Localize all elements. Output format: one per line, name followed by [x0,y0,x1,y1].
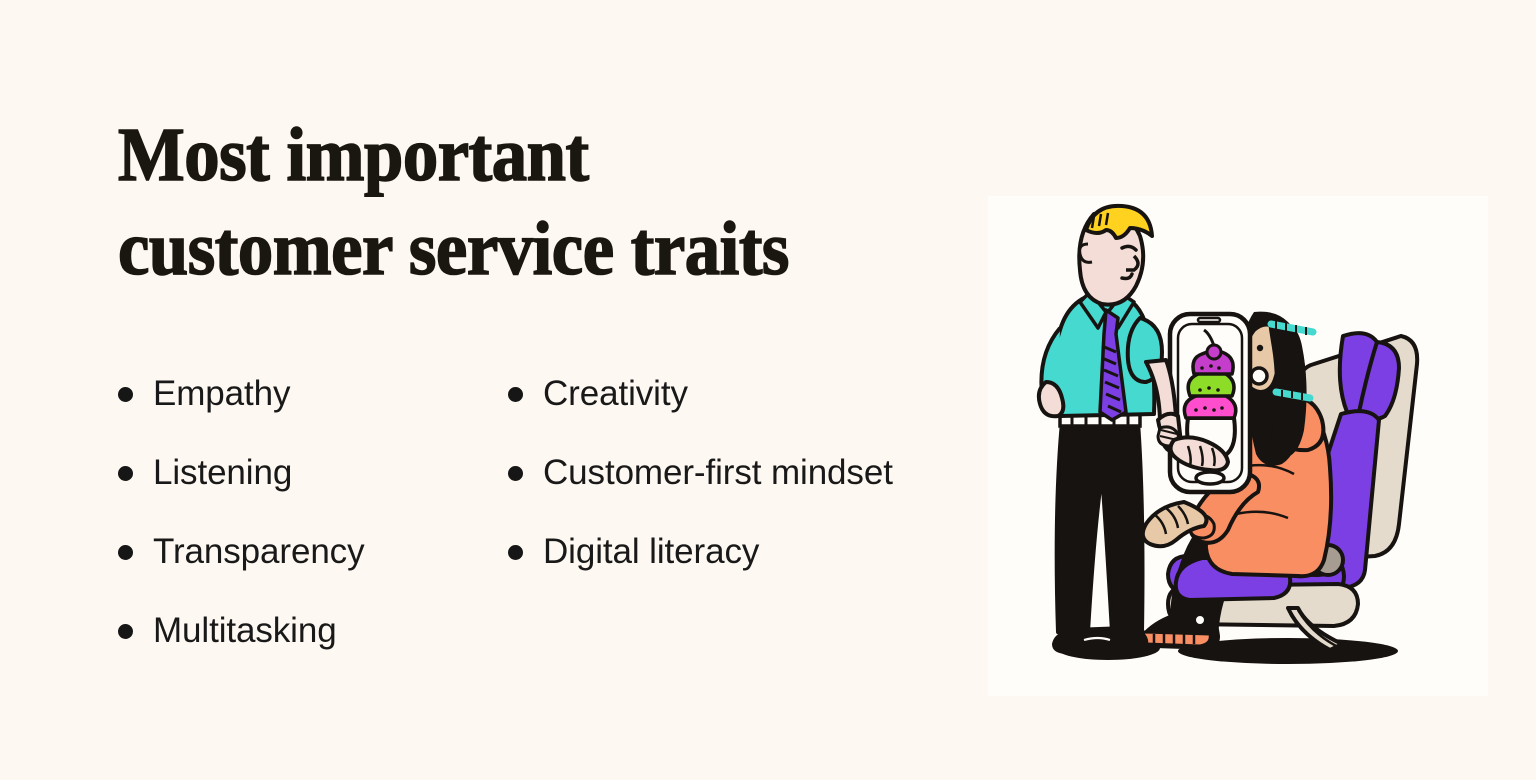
bullet-dot-icon [508,466,523,481]
blond-hair [1086,206,1152,238]
list-item: Empathy [118,372,508,451]
bullet-dot-icon [508,387,523,402]
traits-list-right-column: Creativity Customer-first mindset Digita… [508,372,998,609]
illustration-panel [988,196,1488,696]
list-item-label: Creativity [543,372,688,416]
list-item: Transparency [118,530,508,609]
traits-list: Empathy Listening Transparency Multitask… [118,372,998,688]
list-item-label: Digital literacy [543,530,759,574]
list-item-label: Transparency [153,530,364,574]
attendant-trousers [1057,422,1143,632]
list-item-label: Customer-first mindset [543,451,893,495]
bullet-dot-icon [118,466,133,481]
passenger-eye [1257,345,1263,351]
list-item: Creativity [508,372,998,451]
list-item-label: Empathy [153,372,290,416]
bullet-dot-icon [118,624,133,639]
page-title-line-2: customer service traits [118,202,936,296]
bullet-dot-icon [118,545,133,560]
bullet-dot-icon [118,387,133,402]
slide-canvas: Most important customer service traits E… [0,0,1536,780]
flight-attendant-illustration [988,196,1488,696]
list-item: Listening [118,451,508,530]
passenger-sneaker-sole [1140,632,1210,646]
page-title-line-1: Most important [118,108,936,202]
page-title: Most important customer service traits [118,108,998,296]
sundae-glass-foot [1196,472,1224,484]
traits-list-left-column: Empathy Listening Transparency Multitask… [118,372,508,688]
bullet-dot-icon [508,545,523,560]
cherry-garnish [1207,345,1221,359]
list-item: Multitasking [118,609,508,688]
list-item: Digital literacy [508,530,998,609]
list-item-label: Multitasking [153,609,337,653]
sneaker-lace-dot [1195,615,1205,625]
list-item: Customer-first mindset [508,451,998,530]
list-item-label: Listening [153,451,292,495]
passenger-mouth [1251,368,1267,384]
